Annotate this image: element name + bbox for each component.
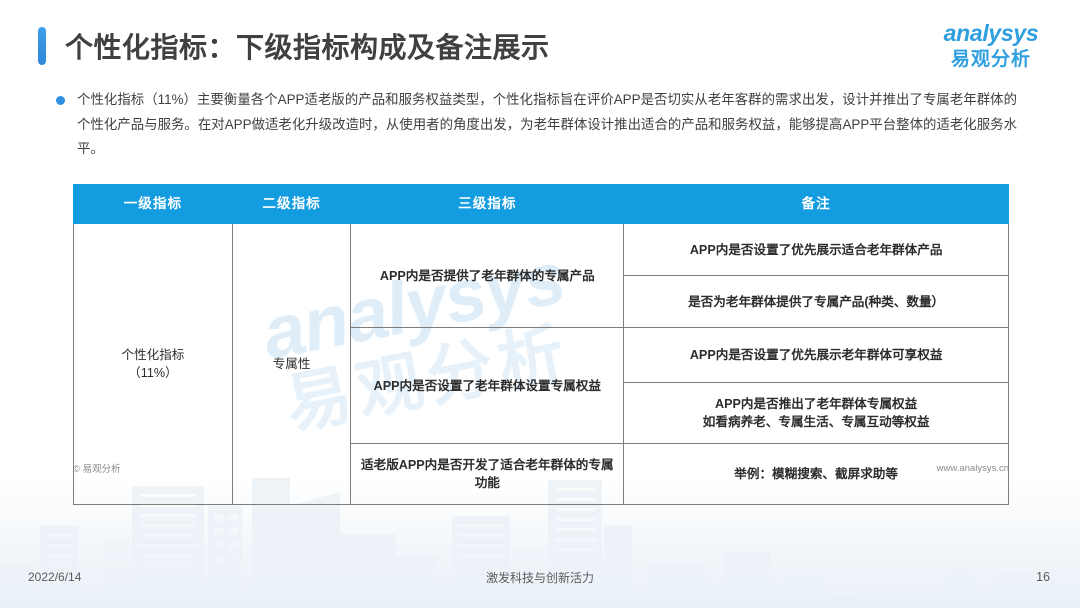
slide-date: 2022/6/14 — [28, 570, 81, 584]
brand-logo-word: analysys — [932, 22, 1050, 45]
cell-remark-3: APP内是否设置了优先展示老年群体可享权益 — [624, 328, 1009, 383]
cell-level1-line1: 个性化指标 — [80, 346, 226, 364]
intro-paragraph-block: 个性化指标（11%）主要衡量各个APP适老版的产品和服务权益类型，个性化指标旨在… — [56, 88, 1026, 162]
indicator-table: 一级指标 二级指标 三级指标 备注 个性化指标 （11%） 专属性 APP内是否… — [73, 184, 1009, 505]
table-row: 个性化指标 （11%） 专属性 APP内是否提供了老年群体的专属产品 APP内是… — [74, 224, 1009, 276]
page-title: 个性化指标：下级指标构成及备注展示 — [65, 26, 550, 66]
slide-page-number: 16 — [1036, 570, 1050, 584]
cell-level1-line2: （11%） — [80, 364, 226, 382]
website-note: www.analysys.cn — [937, 463, 1009, 474]
table-footer: © 易观分析 www.analysys.cn — [73, 461, 1009, 475]
indicator-table-wrap: 一级指标 二级指标 三级指标 备注 个性化指标 （11%） 专属性 APP内是否… — [73, 184, 1009, 505]
column-header-level2: 二级指标 — [232, 185, 351, 224]
cell-level3-2: APP内是否设置了老年群体设置专属权益 — [351, 328, 624, 444]
cell-remark-2: 是否为老年群体提供了专属产品(种类、数量） — [624, 276, 1009, 328]
cell-remark-4-line1: APP内是否推出了老年群体专属权益 — [630, 395, 1002, 413]
brand-logo-cn: 易观分析 — [932, 50, 1050, 69]
brand-logo: analysys 易观分析 — [932, 22, 1050, 69]
column-header-level3: 三级指标 — [351, 185, 624, 224]
column-header-remark: 备注 — [624, 185, 1009, 224]
copyright-note: © 易观分析 — [73, 461, 121, 475]
table-header-row: 一级指标 二级指标 三级指标 备注 — [74, 185, 1009, 224]
bottom-bar: 2022/6/14 激发科技与创新活力 16 — [0, 568, 1080, 586]
column-header-level1: 一级指标 — [74, 185, 233, 224]
cell-remark-4-line2: 如看病养老、专属生活、专属互动等权益 — [630, 413, 1002, 431]
slide-slogan: 激发科技与创新活力 — [0, 569, 1080, 586]
intro-paragraph: 个性化指标（11%）主要衡量各个APP适老版的产品和服务权益类型，个性化指标旨在… — [77, 88, 1017, 162]
title-accent-bar — [38, 27, 46, 65]
cell-level3-1: APP内是否提供了老年群体的专属产品 — [351, 224, 624, 328]
cell-remark-4: APP内是否推出了老年群体专属权益 如看病养老、专属生活、专属互动等权益 — [624, 383, 1009, 444]
slide-root: 个性化指标：下级指标构成及备注展示 analysys 易观分析 个性化指标（11… — [0, 0, 1080, 608]
cell-remark-1: APP内是否设置了优先展示适合老年群体产品 — [624, 224, 1009, 276]
bullet-icon — [56, 96, 65, 105]
page-title-row: 个性化指标：下级指标构成及备注展示 — [38, 24, 550, 68]
